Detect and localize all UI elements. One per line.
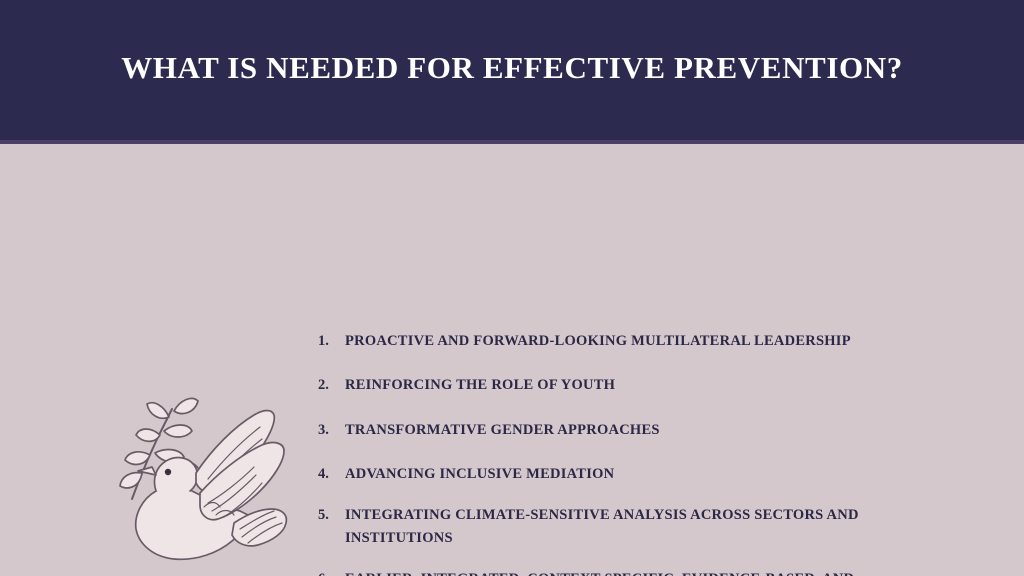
list-item: 5. INTEGRATING CLIMATE-SENSITIVE ANALYSI…	[318, 504, 918, 551]
list-item-number: 3.	[318, 419, 345, 442]
list-item: 4. ADVANCING INCLUSIVE MEDIATION	[318, 463, 918, 486]
dove-with-olive-branch-icon	[112, 387, 298, 563]
list-item-label: INTEGRATING CLIMATE-SENSITIVE ANALYSIS A…	[345, 504, 918, 551]
list-item: 3. TRANSFORMATIVE GENDER APPROACHES	[318, 419, 918, 442]
list-item-number: 6.	[318, 568, 345, 576]
list-item-label: PROACTIVE AND FORWARD-LOOKING MULTILATER…	[345, 330, 918, 353]
list-item-number: 2.	[318, 374, 345, 397]
prevention-requirements-list: 1. PROACTIVE AND FORWARD-LOOKING MULTILA…	[318, 330, 918, 576]
list-item: 6. EARLIER, INTEGRATED, CONTEXT-SPECIFIC…	[318, 568, 918, 576]
list-item-label: EARLIER, INTEGRATED, CONTEXT-SPECIFIC, E…	[345, 568, 918, 576]
list-item-number: 1.	[318, 330, 345, 353]
slide-title: WHAT IS NEEDED FOR EFFECTIVE PREVENTION?	[0, 50, 1024, 86]
list-item-number: 4.	[318, 463, 345, 486]
list-item-label: REINFORCING THE ROLE OF YOUTH	[345, 374, 918, 397]
list-item-label: ADVANCING INCLUSIVE MEDIATION	[345, 463, 918, 486]
presentation-slide: WHAT IS NEEDED FOR EFFECTIVE PREVENTION?	[0, 0, 1024, 576]
list-item-number: 5.	[318, 504, 345, 527]
slide-body: 1. PROACTIVE AND FORWARD-LOOKING MULTILA…	[0, 144, 1024, 576]
list-item: 1. PROACTIVE AND FORWARD-LOOKING MULTILA…	[318, 330, 918, 353]
list-item: 2. REINFORCING THE ROLE OF YOUTH	[318, 374, 918, 397]
list-item-label: TRANSFORMATIVE GENDER APPROACHES	[345, 419, 918, 442]
